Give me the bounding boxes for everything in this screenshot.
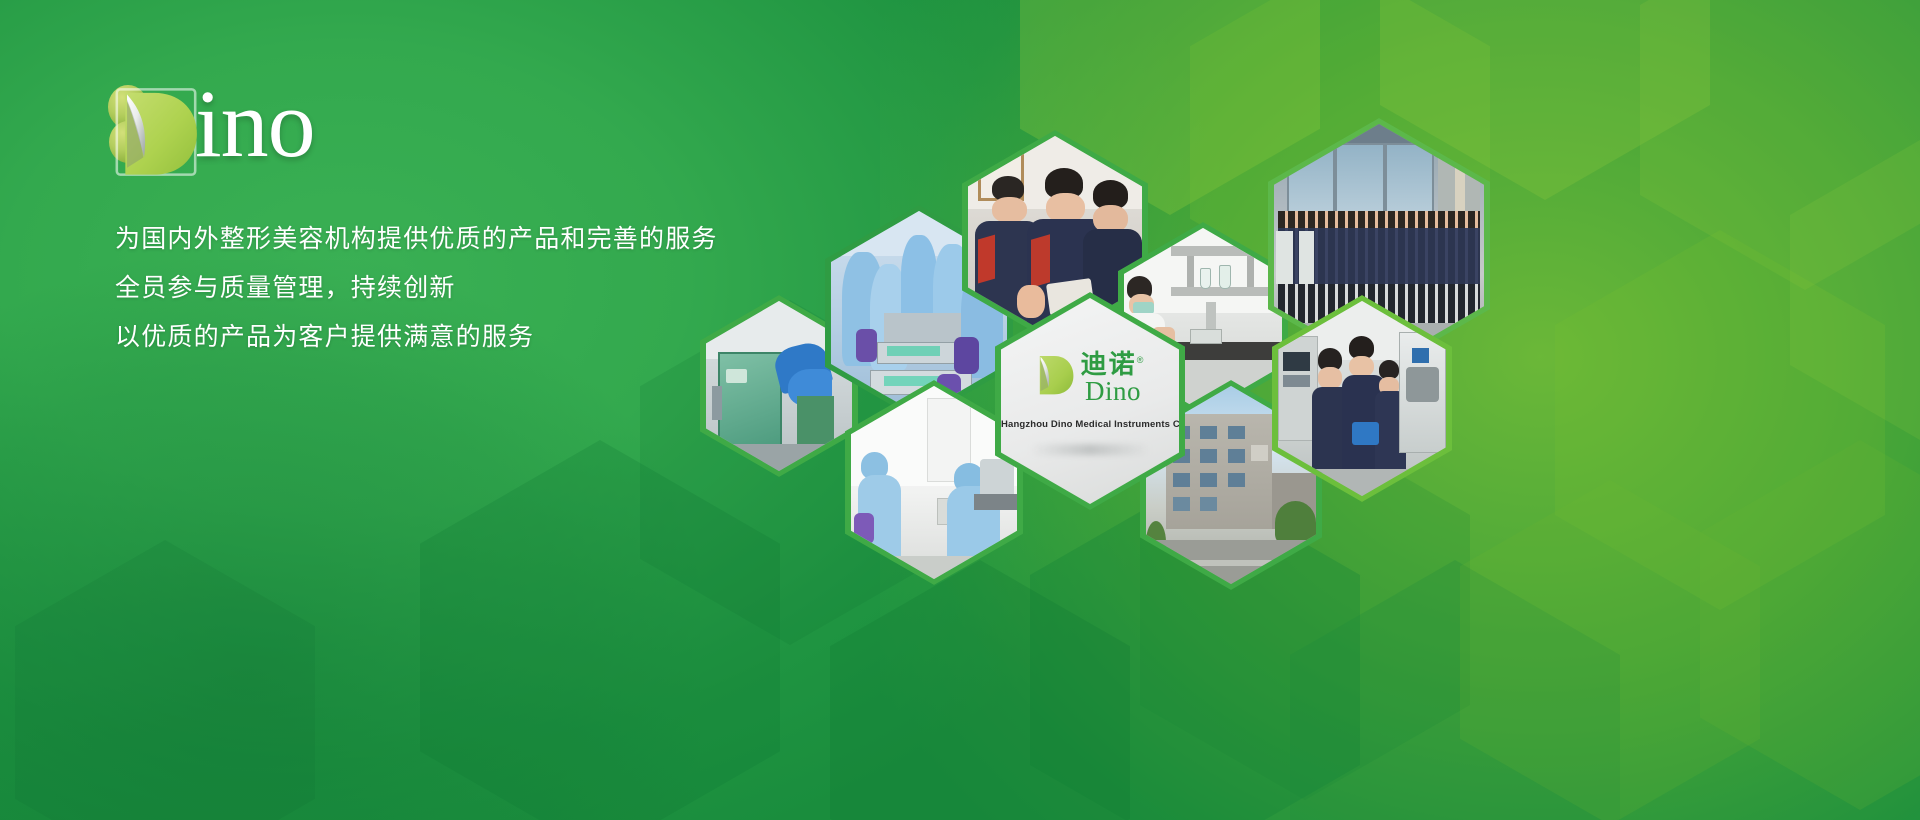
brand-card-company-line: Hangzhou Dino Medical Instruments Co.. <box>1001 419 1179 430</box>
tagline-line-1: 为国内外整形美容机构提供优质的产品和完善的服务 <box>115 215 935 264</box>
deco-hex-14 <box>1790 140 1920 440</box>
deco-hex-9 <box>830 560 1130 820</box>
hero-banner: ino 为国内外整形美容机构提供优质的产品和完善的服务 全员参与质量管理，持续创… <box>0 0 1920 820</box>
brand-card-content: 迪诺® Dino Hangzhou Dino Medical Instrumen… <box>1001 347 1179 455</box>
registered-mark-icon: ® <box>1137 355 1146 365</box>
brand-card-english-name: Dino <box>1081 378 1146 404</box>
brand-card-d-leaf-icon <box>1035 354 1075 398</box>
deco-hex-13 <box>1460 480 1760 820</box>
tagline-line-2: 全员参与质量管理，持续创新 <box>115 264 935 313</box>
brand-card-blurred-line <box>1030 444 1150 455</box>
deco-hex-10 <box>420 440 780 820</box>
brand-wordmark: ino <box>195 76 315 172</box>
brand-card-chinese-name: 迪诺 <box>1081 349 1137 379</box>
deco-hex-5 <box>1555 230 1885 610</box>
deco-hex-15 <box>15 540 315 820</box>
deco-hex-8 <box>1290 560 1620 820</box>
deco-hex-6 <box>1700 440 1920 810</box>
deco-hex-4 <box>1640 0 1920 290</box>
logo-d-leaf-icon <box>113 86 199 178</box>
brand-logo: ino <box>95 70 515 180</box>
